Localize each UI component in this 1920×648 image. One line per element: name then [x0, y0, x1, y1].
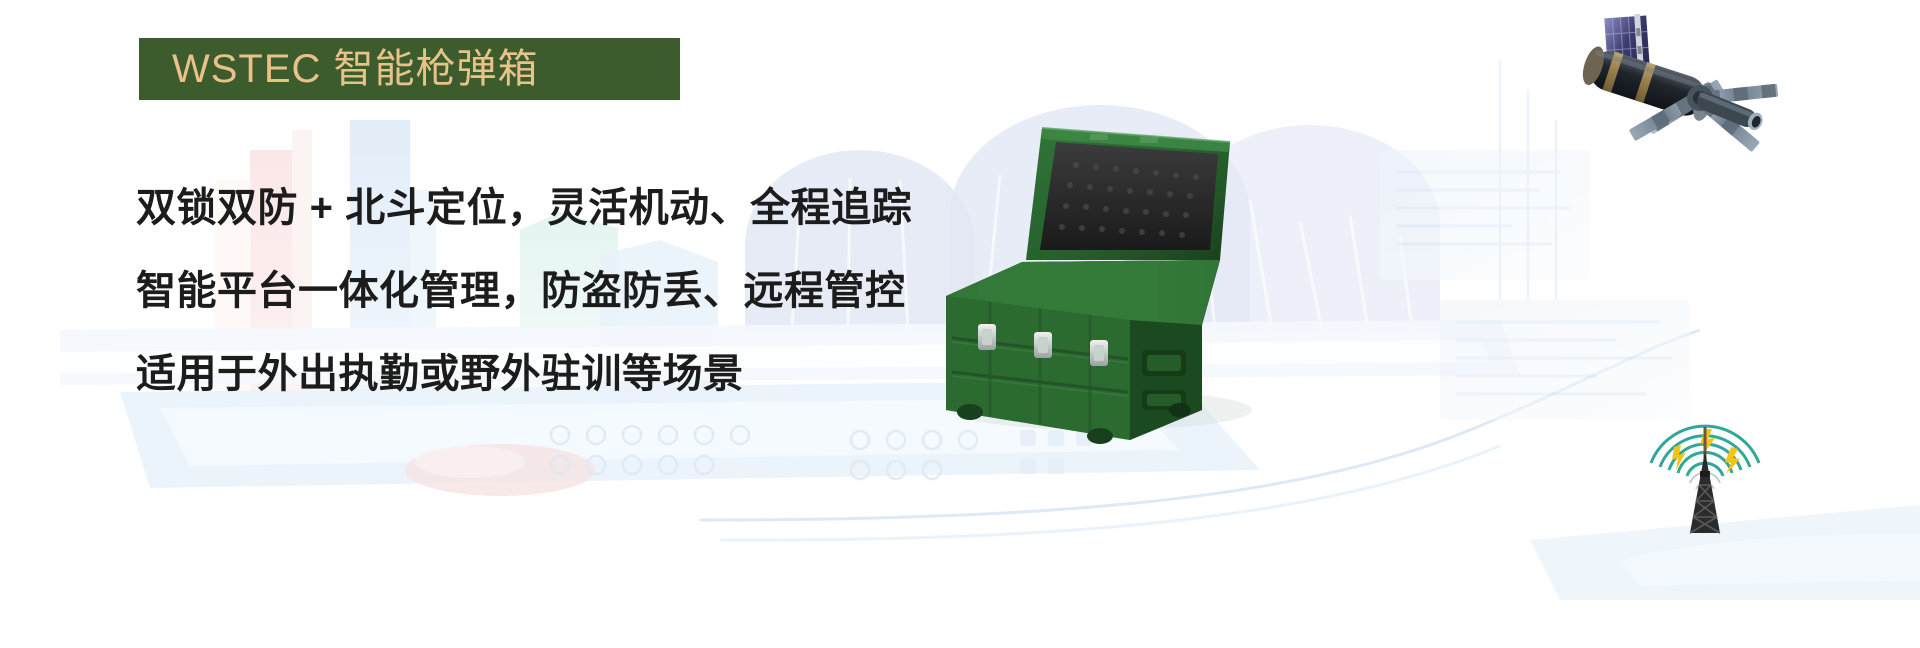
- product-image-ammunition-case: [930, 110, 1270, 480]
- feature-line-1: 双锁双防 + 北斗定位，灵活机动、全程追踪: [136, 186, 912, 230]
- radio-tower-icon: [1630, 355, 1780, 535]
- satellite-icon: [1580, 2, 1780, 152]
- feature-line-3: 适用于外出执勤或野外驻训等场景: [136, 352, 912, 396]
- title-banner: WSTEC 智能枪弹箱: [139, 38, 680, 100]
- page-title: WSTEC 智能枪弹箱: [172, 49, 539, 89]
- feature-list: 双锁双防 + 北斗定位，灵活机动、全程追踪 智能平台一体化管理，防盗防丢、远程管…: [136, 186, 912, 396]
- feature-line-2: 智能平台一体化管理，防盗防丢、远程管控: [136, 269, 912, 313]
